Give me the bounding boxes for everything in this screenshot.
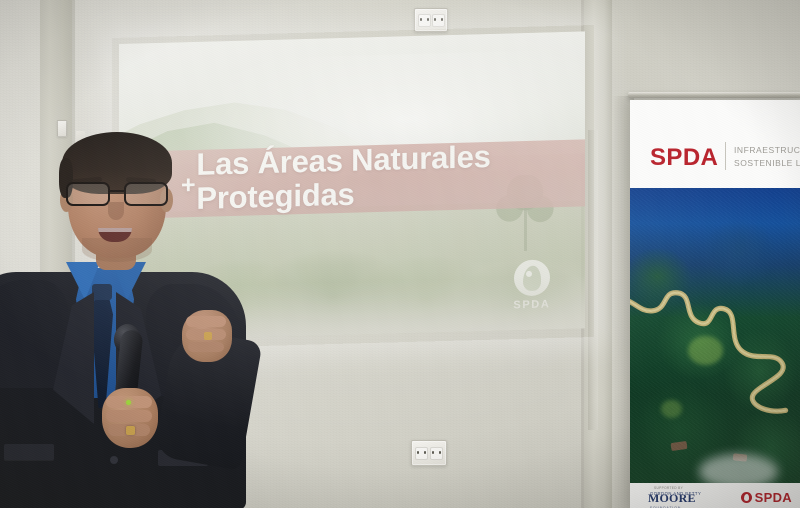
presentation-photo: + Las Áreas Naturales Protegidas SPDA SP… <box>0 0 800 508</box>
wall-vignette <box>0 0 800 508</box>
